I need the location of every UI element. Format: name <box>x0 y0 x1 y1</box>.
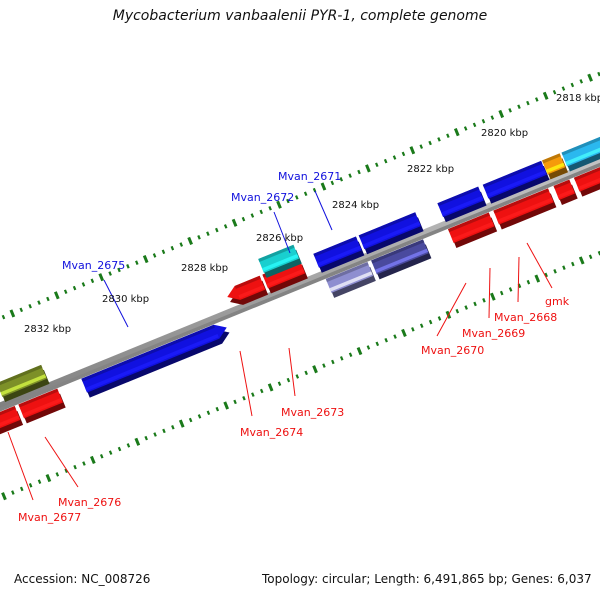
ruler-label-7: 2832 kbp <box>24 324 71 335</box>
ruler-label-0: 2818 kbp <box>556 93 600 104</box>
leader-line-mvan_2673 <box>289 348 295 396</box>
gene-label-mvan_2668[interactable]: Mvan_2668 <box>494 311 557 324</box>
accession-text: Accession: NC_008726 <box>14 572 150 586</box>
ruler-label-2: 2822 kbp <box>407 164 454 175</box>
gene-feature-mvan_2677[interactable] <box>0 406 23 439</box>
leader-line-mvan_2668 <box>518 257 519 302</box>
genome-map-canvas: 2818 kbp2820 kbp2822 kbp2824 kbp2826 kbp… <box>0 0 600 600</box>
leader-line-mvan_2669 <box>489 268 490 318</box>
gene-label-mvan_2676[interactable]: Mvan_2676 <box>58 496 121 509</box>
gene-label-mvan_2673[interactable]: Mvan_2673 <box>281 406 344 419</box>
gene-label-mvan_2672[interactable]: Mvan_2672 <box>231 191 294 204</box>
gene-label-mvan_2670[interactable]: Mvan_2670 <box>421 344 484 357</box>
leader-line-mvan_2671 <box>315 191 332 230</box>
gene-label-gmk[interactable]: gmk <box>545 295 570 308</box>
leader-line-mvan_2677 <box>8 432 33 500</box>
gene-label-mvan_2671[interactable]: Mvan_2671 <box>278 170 341 183</box>
ruler-label-6: 2830 kbp <box>102 294 149 305</box>
gene-label-mvan_2675[interactable]: Mvan_2675 <box>62 259 125 272</box>
leader-line-mvan_2674 <box>240 351 252 416</box>
ruler-label-5: 2828 kbp <box>181 263 228 274</box>
ruler-label-4: 2826 kbp <box>256 233 303 244</box>
gene-label-mvan_2674[interactable]: Mvan_2674 <box>240 426 303 439</box>
gene-label-mvan_2669[interactable]: Mvan_2669 <box>462 327 525 340</box>
genome-summary-text: Topology: circular; Length: 6,491,865 bp… <box>262 572 592 586</box>
gene-label-mvan_2677[interactable]: Mvan_2677 <box>18 511 81 524</box>
ruler-label-3: 2824 kbp <box>332 200 379 211</box>
ruler-label-1: 2820 kbp <box>481 128 528 139</box>
